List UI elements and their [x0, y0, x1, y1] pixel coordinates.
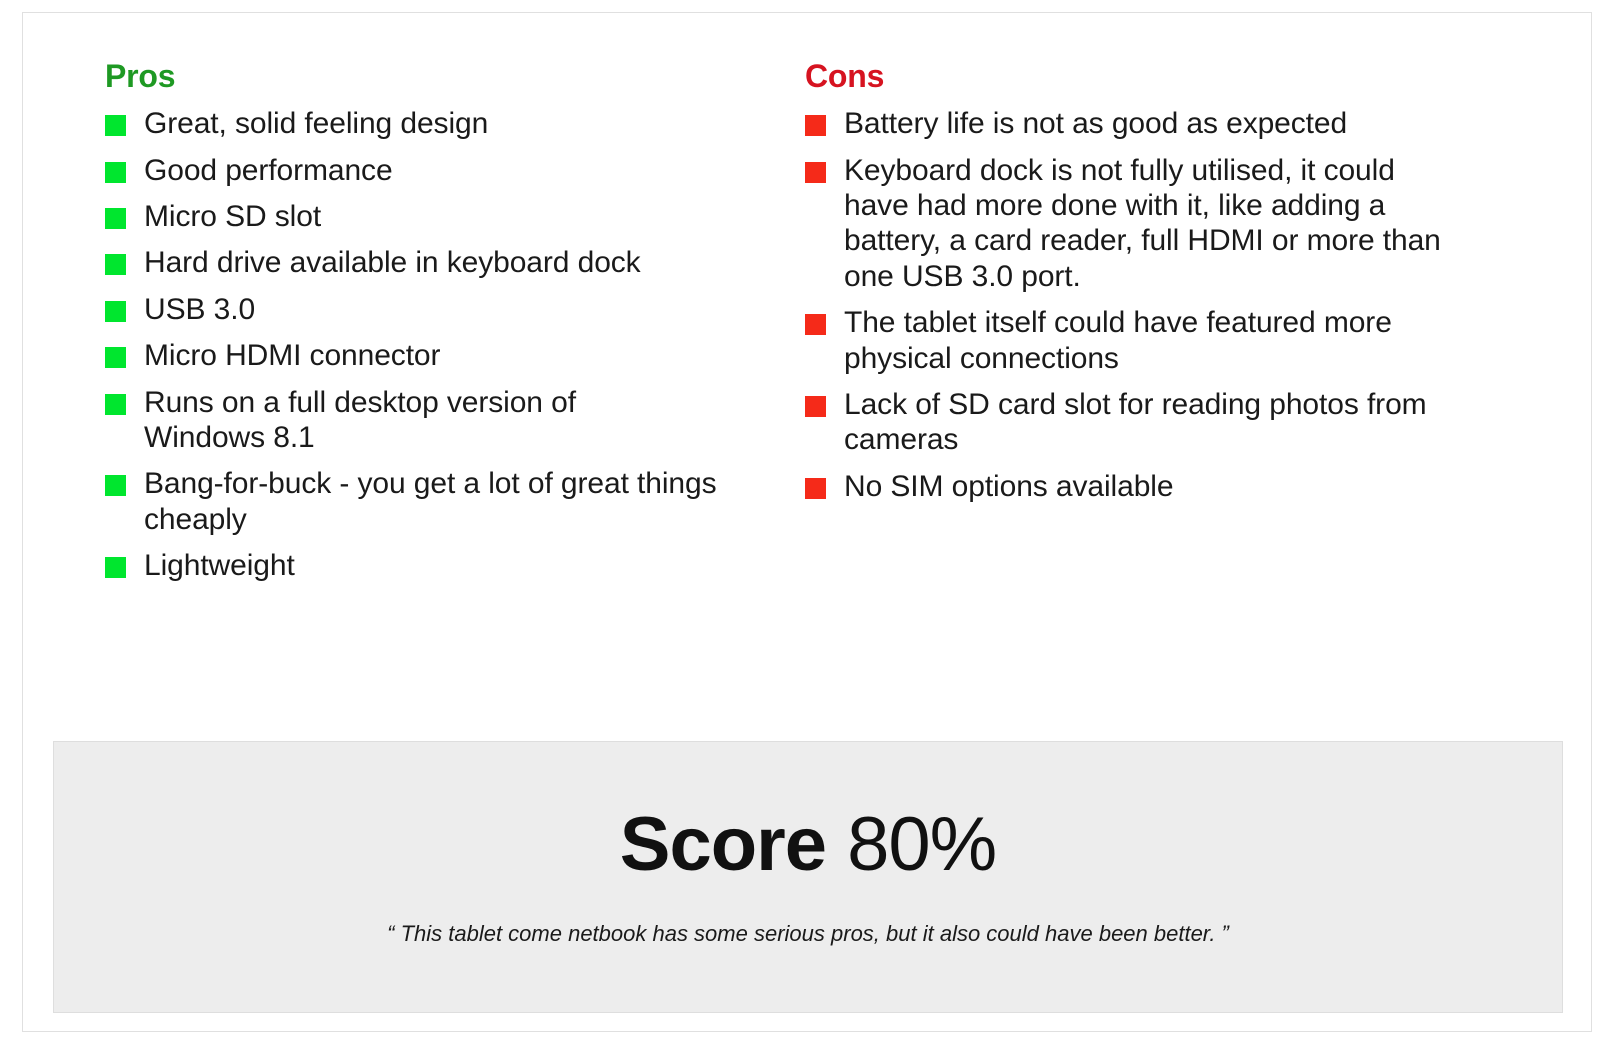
bullet-square-icon: [105, 162, 126, 183]
pros-item-label: Lightweight: [144, 548, 295, 583]
bullet-square-icon: [105, 475, 126, 496]
pros-item-label: Good performance: [144, 153, 393, 188]
pros-cons-columns: Pros Great, solid feeling design Good pe…: [23, 13, 1591, 583]
bullet-square-icon: [805, 162, 826, 183]
list-item: Keyboard dock is not fully utilised, it …: [805, 153, 1503, 295]
list-item: Micro SD slot: [105, 199, 753, 234]
pros-heading: Pros: [105, 59, 753, 94]
cons-item-label: Lack of SD card slot for reading photos …: [844, 387, 1469, 458]
bullet-square-icon: [105, 254, 126, 275]
pros-item-label: Bang-for-buck - you get a lot of great t…: [144, 466, 744, 537]
bullet-square-icon: [805, 478, 826, 499]
list-item: Runs on a full desktop version of Window…: [105, 385, 753, 456]
list-item: Lack of SD card slot for reading photos …: [805, 387, 1503, 458]
bullet-square-icon: [105, 557, 126, 578]
cons-item-label: Keyboard dock is not fully utilised, it …: [844, 153, 1459, 295]
bullet-square-icon: [105, 301, 126, 322]
score-panel: Score 80% “ This tablet come netbook has…: [53, 741, 1563, 1013]
pros-item-label: Runs on a full desktop version of Window…: [144, 385, 699, 456]
list-item: Good performance: [105, 153, 753, 188]
cons-list: Battery life is not as good as expected …: [805, 106, 1503, 504]
bullet-square-icon: [805, 115, 826, 136]
pros-list: Great, solid feeling design Good perform…: [105, 106, 753, 583]
score-line: Score 80%: [620, 807, 996, 883]
pros-item-label: Micro SD slot: [144, 199, 321, 234]
list-item: Micro HDMI connector: [105, 338, 753, 373]
bullet-square-icon: [805, 396, 826, 417]
list-item: Hard drive available in keyboard dock: [105, 245, 753, 280]
review-card: Pros Great, solid feeling design Good pe…: [22, 12, 1592, 1032]
pros-item-label: USB 3.0: [144, 292, 255, 327]
list-item: The tablet itself could have featured mo…: [805, 305, 1503, 376]
bullet-square-icon: [105, 347, 126, 368]
cons-heading: Cons: [805, 59, 1503, 94]
list-item: Lightweight: [105, 548, 753, 583]
score-quote: “ This tablet come netbook has some seri…: [387, 921, 1229, 947]
list-item: USB 3.0: [105, 292, 753, 327]
list-item: No SIM options available: [805, 469, 1503, 504]
score-value: 80%: [847, 802, 996, 887]
list-item: Bang-for-buck - you get a lot of great t…: [105, 466, 753, 537]
cons-item-label: Battery life is not as good as expected: [844, 106, 1347, 141]
pros-item-label: Hard drive available in keyboard dock: [144, 245, 641, 280]
bullet-square-icon: [105, 115, 126, 136]
bullet-square-icon: [105, 208, 126, 229]
bullet-square-icon: [105, 394, 126, 415]
pros-item-label: Micro HDMI connector: [144, 338, 440, 373]
cons-item-label: No SIM options available: [844, 469, 1173, 504]
list-item: Great, solid feeling design: [105, 106, 753, 141]
pros-item-label: Great, solid feeling design: [144, 106, 488, 141]
score-label: Score: [620, 802, 826, 887]
list-item: Battery life is not as good as expected: [805, 106, 1503, 141]
bullet-square-icon: [805, 314, 826, 335]
cons-column: Cons Battery life is not as good as expe…: [783, 13, 1543, 504]
pros-column: Pros Great, solid feeling design Good pe…: [23, 13, 783, 583]
cons-item-label: The tablet itself could have featured mo…: [844, 305, 1429, 376]
